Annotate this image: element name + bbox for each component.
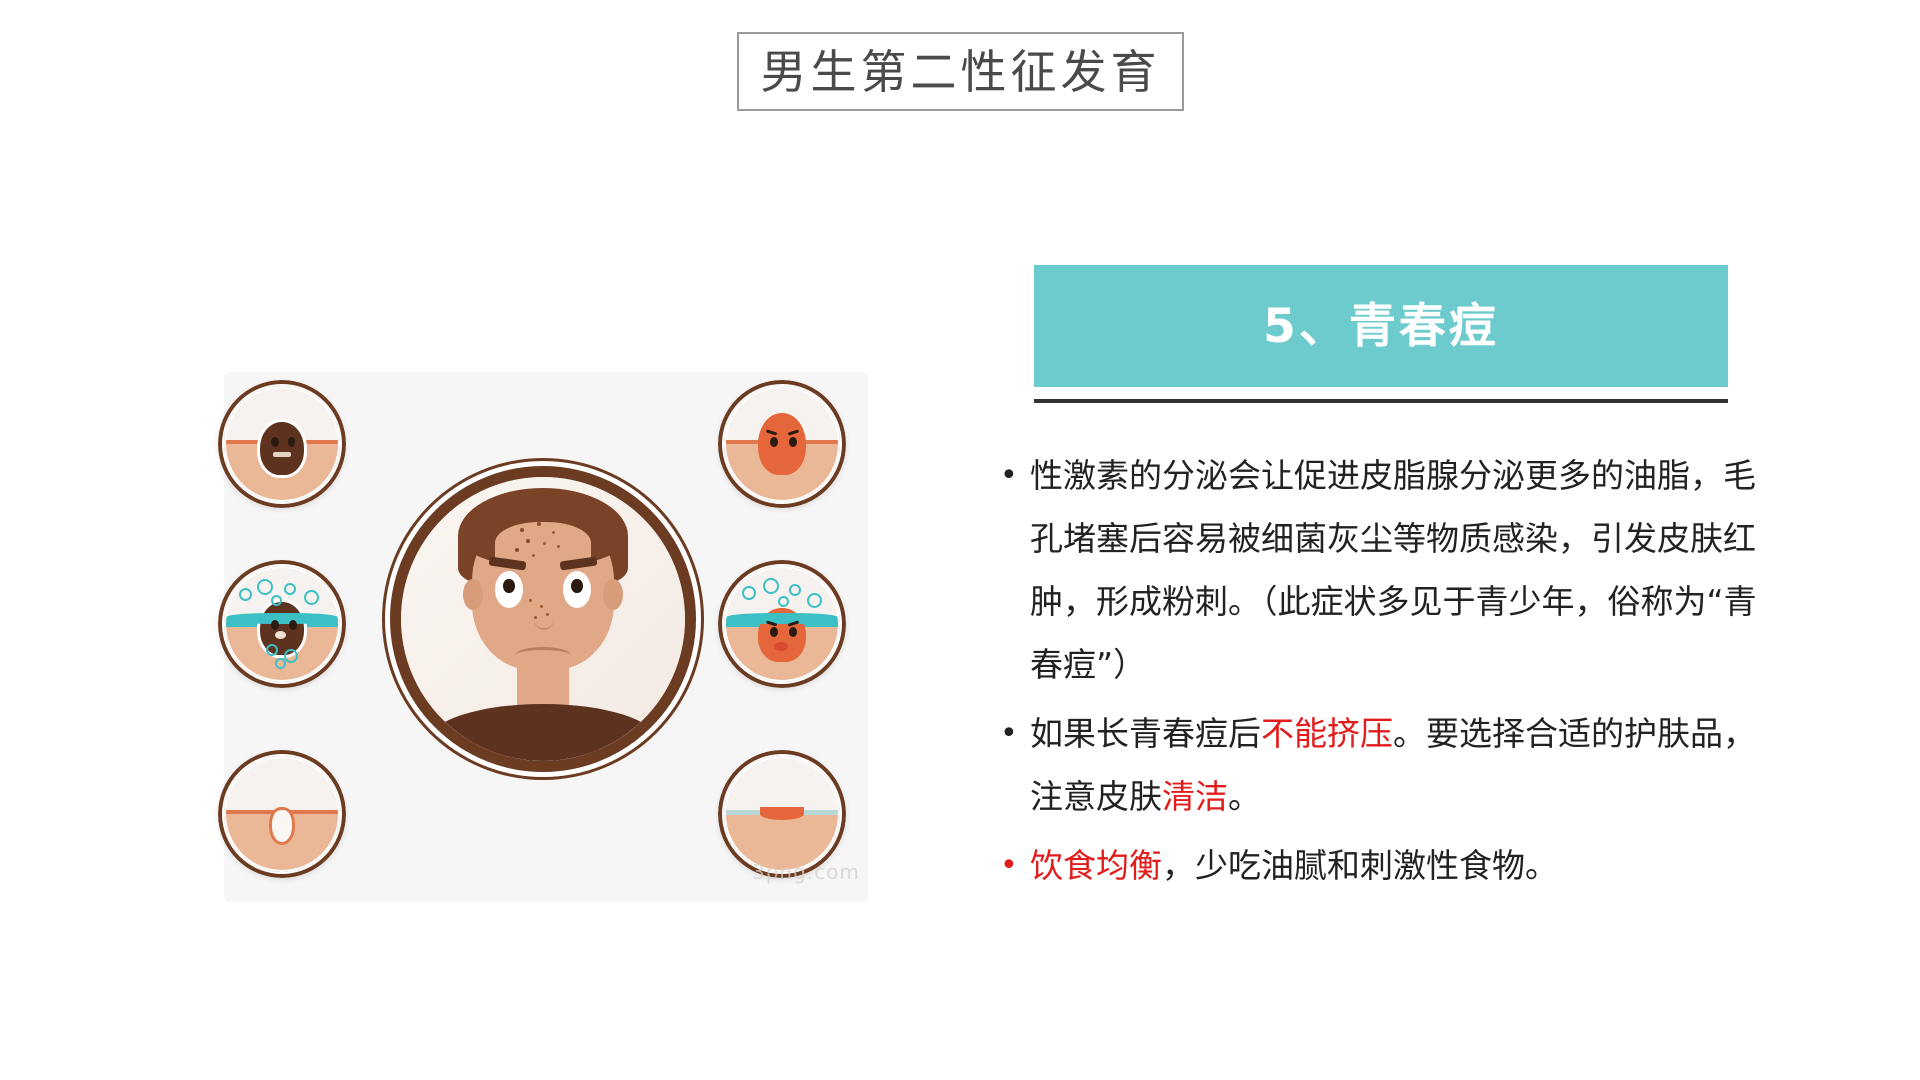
- pimple-pore: [718, 380, 846, 508]
- bullet-segment: 。: [1228, 777, 1261, 816]
- bullet-marker: •: [1000, 702, 1030, 765]
- character-eye-left: [770, 437, 778, 447]
- bullet-text: 性激素的分泌会让促进皮脂腺分泌更多的油脂，毛孔堵塞后容易被细菌灰尘等物质感染，引…: [1030, 444, 1760, 696]
- face-inner: [401, 477, 685, 761]
- blackhead-pore: [218, 380, 346, 508]
- bullet-text: 如果长青春痘后不能挤压。要选择合适的护肤品，注意皮肤清洁。: [1030, 702, 1760, 828]
- bubble: [284, 649, 298, 663]
- pore-inner: [726, 758, 838, 870]
- acne-dot: [552, 531, 555, 534]
- empty-pore: [218, 750, 346, 878]
- pupil-right: [571, 579, 582, 593]
- bullet-marker: •: [1000, 834, 1030, 897]
- bubble: [742, 586, 756, 600]
- list-item: • 饮食均衡，少吃油腻和刺激性食物。: [1000, 834, 1760, 897]
- character-eye-left: [271, 437, 279, 447]
- bubble: [271, 595, 282, 606]
- bullet-segment-highlight: 饮食均衡: [1030, 846, 1162, 885]
- character-eye-right: [289, 620, 297, 630]
- bullet-segment-highlight: 清洁: [1162, 777, 1228, 816]
- acne-dot: [515, 548, 519, 552]
- pore-inner: [226, 758, 338, 870]
- healed-skin-pore: [718, 750, 846, 878]
- watermark: 3png.com: [752, 860, 860, 884]
- character-mouth: [275, 631, 286, 639]
- pupil-left: [503, 579, 514, 593]
- blackhead-character: [257, 419, 306, 477]
- section-divider: [1034, 399, 1728, 403]
- bubble: [239, 588, 252, 601]
- bullet-segment: ，少吃油腻和刺激性食物。: [1162, 846, 1558, 885]
- character-eye-left: [770, 627, 778, 637]
- foam-layer: [726, 613, 838, 624]
- pore-inner: [226, 388, 338, 500]
- bullet-marker: •: [1000, 444, 1030, 507]
- page-title: 男生第二性征发育: [761, 49, 1161, 95]
- healed-mark: [760, 807, 805, 819]
- pore-inner: [726, 388, 838, 500]
- foam-layer: [226, 613, 338, 624]
- character-eye-right: [789, 627, 797, 637]
- page-title-box: 男生第二性征发育: [737, 32, 1184, 111]
- boy-face-illustration: [390, 466, 696, 772]
- bullet-segment: 如果长青春痘后: [1030, 714, 1261, 753]
- acne-dot: [540, 605, 543, 608]
- character-eye-left: [271, 620, 279, 630]
- bubble: [275, 658, 286, 669]
- pimple-character: [758, 413, 805, 476]
- acne-dot: [532, 554, 535, 557]
- bubble: [763, 578, 779, 594]
- nose: [534, 608, 554, 630]
- bubble: [257, 579, 273, 595]
- blackhead-cleansing-pore: [218, 560, 346, 688]
- acne-dot: [529, 599, 532, 602]
- list-item: • 性激素的分泌会让促进皮脂腺分泌更多的油脂，毛孔堵塞后容易被细菌灰尘等物质感染…: [1000, 444, 1760, 696]
- character-eye-right: [789, 437, 797, 447]
- character-mouth: [774, 642, 787, 651]
- section-title: 5、青春痘: [1263, 303, 1499, 350]
- blackhead-character: [257, 599, 306, 657]
- section-banner: 5、青春痘: [1034, 265, 1728, 387]
- bullet-text: 饮食均衡，少吃油腻和刺激性食物。: [1030, 834, 1760, 897]
- pore-inner: [726, 568, 838, 680]
- mouth-frown: [515, 647, 572, 664]
- bubble: [284, 583, 296, 595]
- list-item: • 如果长青春痘后不能挤压。要选择合适的护肤品，注意皮肤清洁。: [1000, 702, 1760, 828]
- bubble: [778, 596, 789, 607]
- ear-right: [603, 579, 623, 610]
- bullet-segment: 性激素的分泌会让促进皮脂腺分泌更多的油脂，毛孔堵塞后容易被细菌灰尘等物质感染，引…: [1030, 456, 1757, 684]
- character-mouth: [273, 452, 291, 458]
- bullet-list: • 性激素的分泌会让促进皮脂腺分泌更多的油脂，毛孔堵塞后容易被细菌灰尘等物质感染…: [1000, 444, 1760, 903]
- bubble: [807, 593, 822, 608]
- bubble: [789, 584, 801, 596]
- pore-inner: [226, 568, 338, 680]
- bubble: [304, 590, 319, 605]
- bullet-segment-highlight: 不能挤压: [1261, 714, 1393, 753]
- pimple-cleansing-pore: [718, 560, 846, 688]
